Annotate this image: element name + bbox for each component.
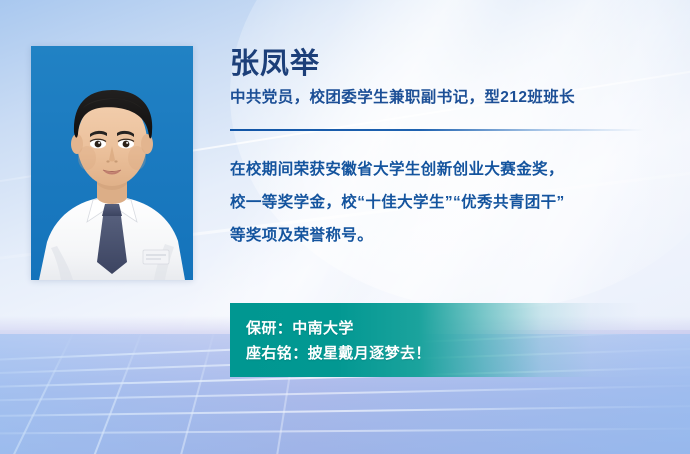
profile-name: 张凤举 <box>230 46 660 82</box>
bio-line: 在校期间荣获安徽省大学生创新创业大赛金奖， <box>230 153 660 186</box>
profile-bio: 在校期间荣获安徽省大学生创新创业大赛金奖， 校一等奖学金，校“十佳大学生”“优秀… <box>230 153 660 252</box>
plane-horizontal-line <box>0 383 690 403</box>
plane-vertical-line <box>88 334 144 454</box>
profile-subtitle: 中共党员，校团委学生兼职副书记，型212班班长 <box>230 86 660 109</box>
bio-line: 校一等奖学金，校“十佳大学生”“优秀共青团干” <box>230 186 660 219</box>
plane-vertical-line <box>7 334 75 454</box>
bio-line: 等奖项及荣誉称号。 <box>230 219 660 252</box>
profile-card: 张凤举 中共党员，校团委学生兼职副书记，型212班班长 在校期间荣获安徽省大学生… <box>0 0 690 454</box>
highlight-footer: 保研：中南大学 座右铭：披星戴月逐梦去！ <box>230 303 640 377</box>
plane-vertical-line <box>176 334 217 454</box>
portrait-illustration <box>31 46 193 280</box>
profile-info: 张凤举 中共党员，校团委学生兼职副书记，型212班班长 在校期间荣获安徽省大学生… <box>230 46 660 252</box>
plane-horizontal-line <box>0 404 690 418</box>
profile-photo <box>31 46 193 280</box>
footer-line-postgraduate: 保研：中南大学 <box>246 316 640 341</box>
footer-line-motto: 座右铭：披星戴月逐梦去！ <box>246 341 640 366</box>
plane-horizontal-line <box>0 427 690 435</box>
section-divider <box>230 129 644 131</box>
